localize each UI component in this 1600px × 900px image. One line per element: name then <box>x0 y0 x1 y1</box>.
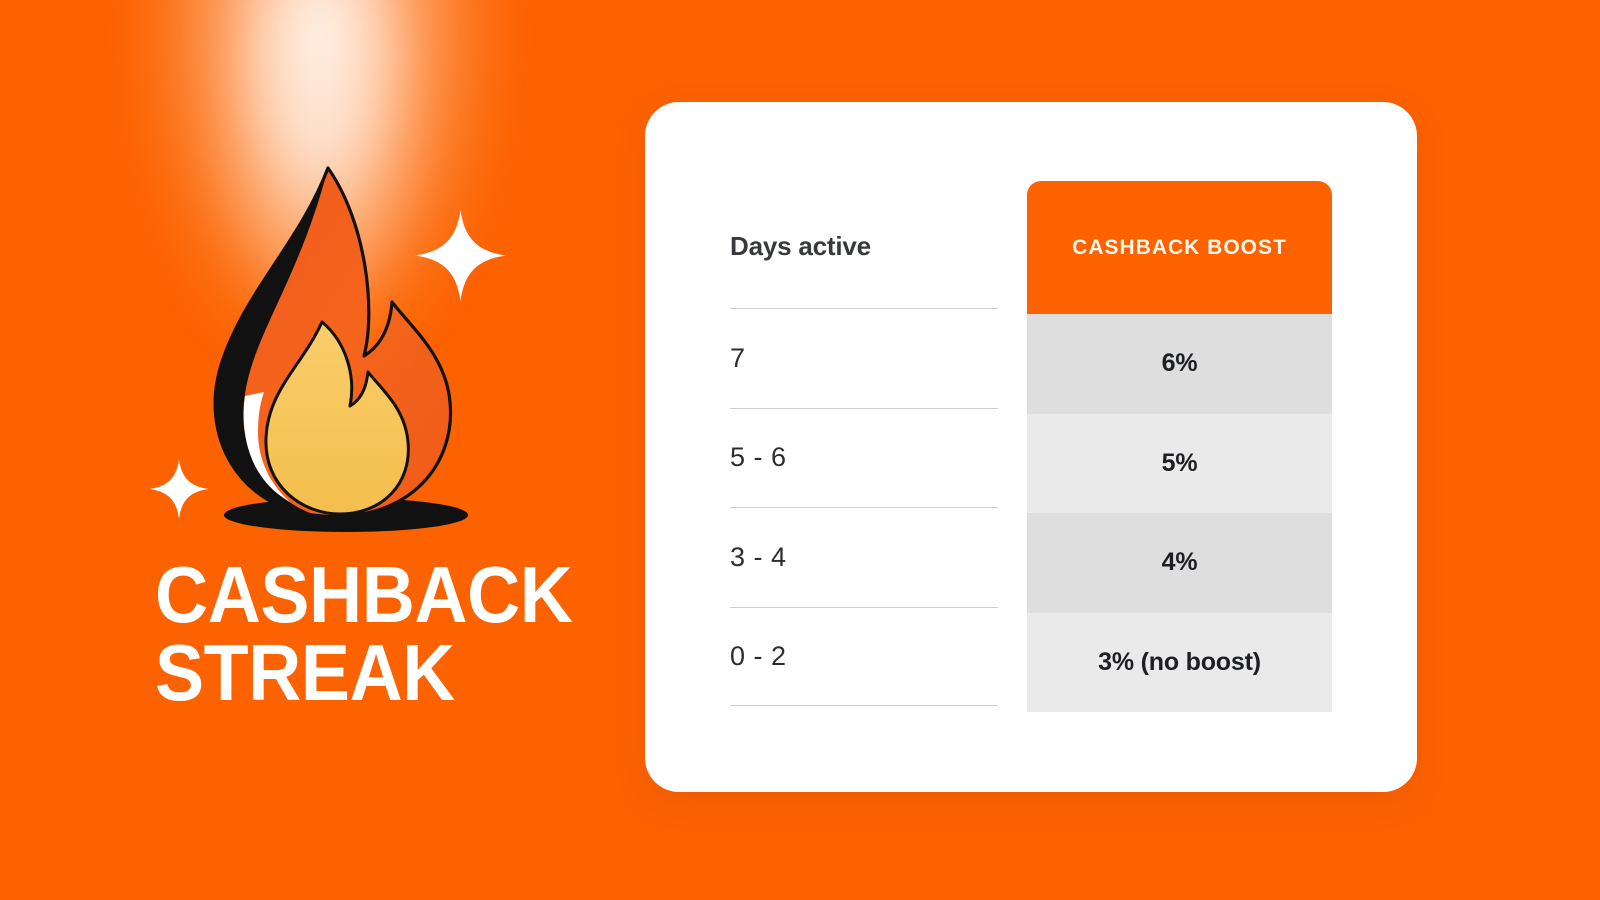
boost-column-header: CASHBACK BOOST <box>1027 181 1332 314</box>
title-line-2: STREAK <box>155 634 560 712</box>
boost-column: CASHBACK BOOST 6% 5% 4% 3% (no boost) <box>1027 181 1332 712</box>
boost-value-cell: 5% <box>1027 414 1332 514</box>
sparkle-icon <box>413 208 508 303</box>
days-column: Days active 7 5 - 6 3 - 4 0 - 2 <box>730 102 998 706</box>
cashback-table: Days active 7 5 - 6 3 - 4 0 - 2 CASHBACK… <box>645 102 1417 792</box>
table-row: 7 <box>730 308 998 408</box>
brand-panel: CASHBACK STREAK <box>0 0 620 900</box>
page-title: CASHBACK STREAK <box>155 556 560 711</box>
title-line-1: CASHBACK <box>155 556 560 634</box>
sparkle-icon <box>148 458 210 520</box>
boost-value-cell: 3% (no boost) <box>1027 613 1332 713</box>
table-row: 3 - 4 <box>730 507 998 607</box>
table-row: 5 - 6 <box>730 408 998 508</box>
cashback-card: Days active 7 5 - 6 3 - 4 0 - 2 CASHBACK… <box>645 102 1417 792</box>
boost-value-cell: 4% <box>1027 513 1332 613</box>
days-column-header: Days active <box>730 102 998 308</box>
table-row: 0 - 2 <box>730 607 998 707</box>
boost-value-cell: 6% <box>1027 314 1332 414</box>
